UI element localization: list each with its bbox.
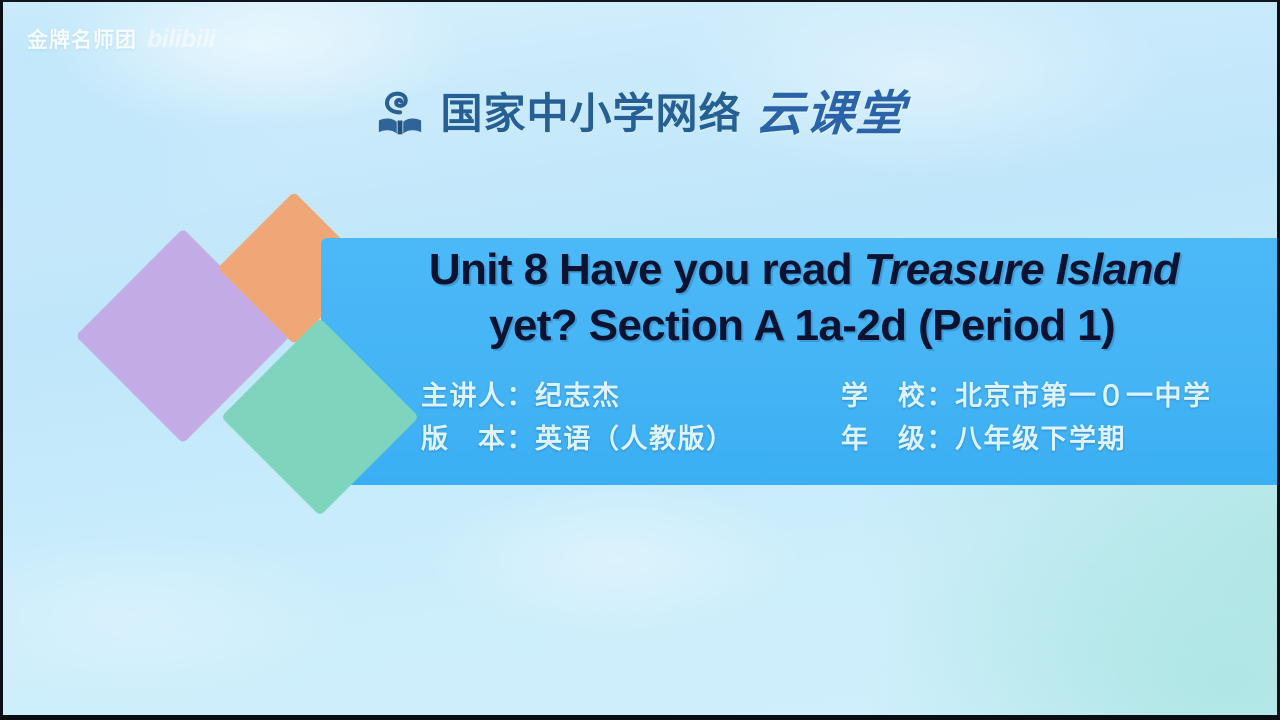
meta-row: 版 本：英语（人教版） 年 级：八年级下学期 xyxy=(421,417,1280,456)
meta-school: 学 校：北京市第一０一中学 xyxy=(841,374,1280,413)
meta-row: 主讲人：纪志杰 学 校：北京市第一０一中学 xyxy=(421,374,1280,413)
open-book-wave-icon xyxy=(374,88,426,140)
brand-title-accent: 云课堂 xyxy=(754,90,907,138)
brand-title-main: 国家中小学网络 xyxy=(440,93,741,135)
lesson-meta: 主讲人：纪志杰 学 校：北京市第一０一中学 版 本：英语（人教版） 年 级：八年… xyxy=(321,374,1280,456)
lesson-title-slide: 金牌名师团 bilibili 国家中小学网络 云课堂 Unit 8 Have y… xyxy=(0,0,1280,720)
meta-presenter: 主讲人：纪志杰 xyxy=(421,374,841,413)
meta-edition: 版 本：英语（人教版） xyxy=(421,417,841,456)
meta-grade: 年 级：八年级下学期 xyxy=(841,417,1280,456)
platform-brand-logo: 国家中小学网络 云课堂 xyxy=(3,88,1277,140)
